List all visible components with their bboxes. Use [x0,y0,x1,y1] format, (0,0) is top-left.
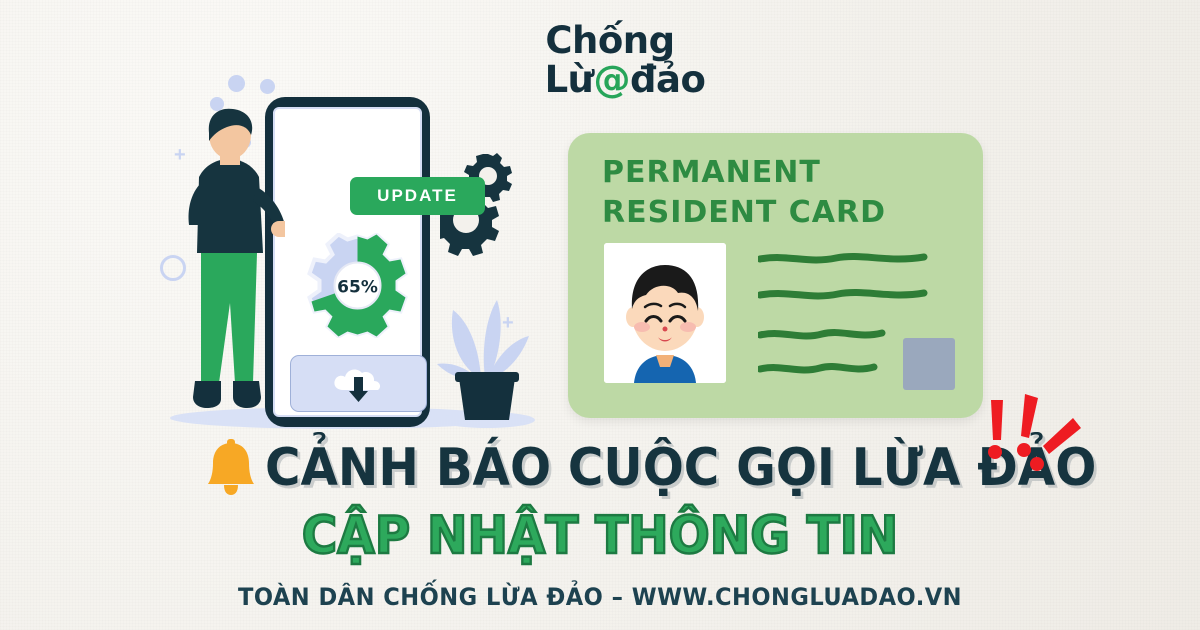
person-figure [175,103,285,433]
headline-line-1: CẢNH BÁO CUỘC GỌI LỪA ĐẢO [265,437,972,499]
gear-progress-label: 65% [337,278,378,298]
card-detail-line [760,293,924,296]
card-detail-line [760,333,882,336]
scam-warning-poster: Chống Lừ@đảo + + + [0,0,1200,630]
decorative-dot [228,75,245,92]
card-portrait-photo [604,243,726,383]
exclamation-marks-icon [975,392,1085,482]
card-title-line-2: RESIDENT CARD [602,195,886,230]
progress-gear: 65% [305,233,410,338]
at-symbol-icon: @ [594,58,631,101]
cloud-download-icon [327,364,391,404]
footer-text: TOÀN DÂN CHỐNG LỪA ĐẢO – WWW.CHONGLUADAO… [36,583,1164,611]
logo-line-1: Chống [505,22,715,59]
permanent-resident-card: PERMANENT RESIDENT CARD [568,133,983,418]
phone-update-illustration: + + + [150,55,570,430]
card-chip [903,338,955,390]
logo-text-after: đảo [630,58,705,101]
potted-plant [435,270,535,430]
download-button[interactable] [290,355,427,412]
update-badge[interactable]: UPDATE [350,177,485,215]
card-detail-line [760,257,924,260]
headline-line-2: CẬP NHẬT THÔNG TIN [42,505,1158,567]
card-title-line-1: PERMANENT [602,155,821,190]
bell-icon [200,437,262,499]
decorative-dot [260,79,275,94]
card-detail-line [760,367,874,370]
